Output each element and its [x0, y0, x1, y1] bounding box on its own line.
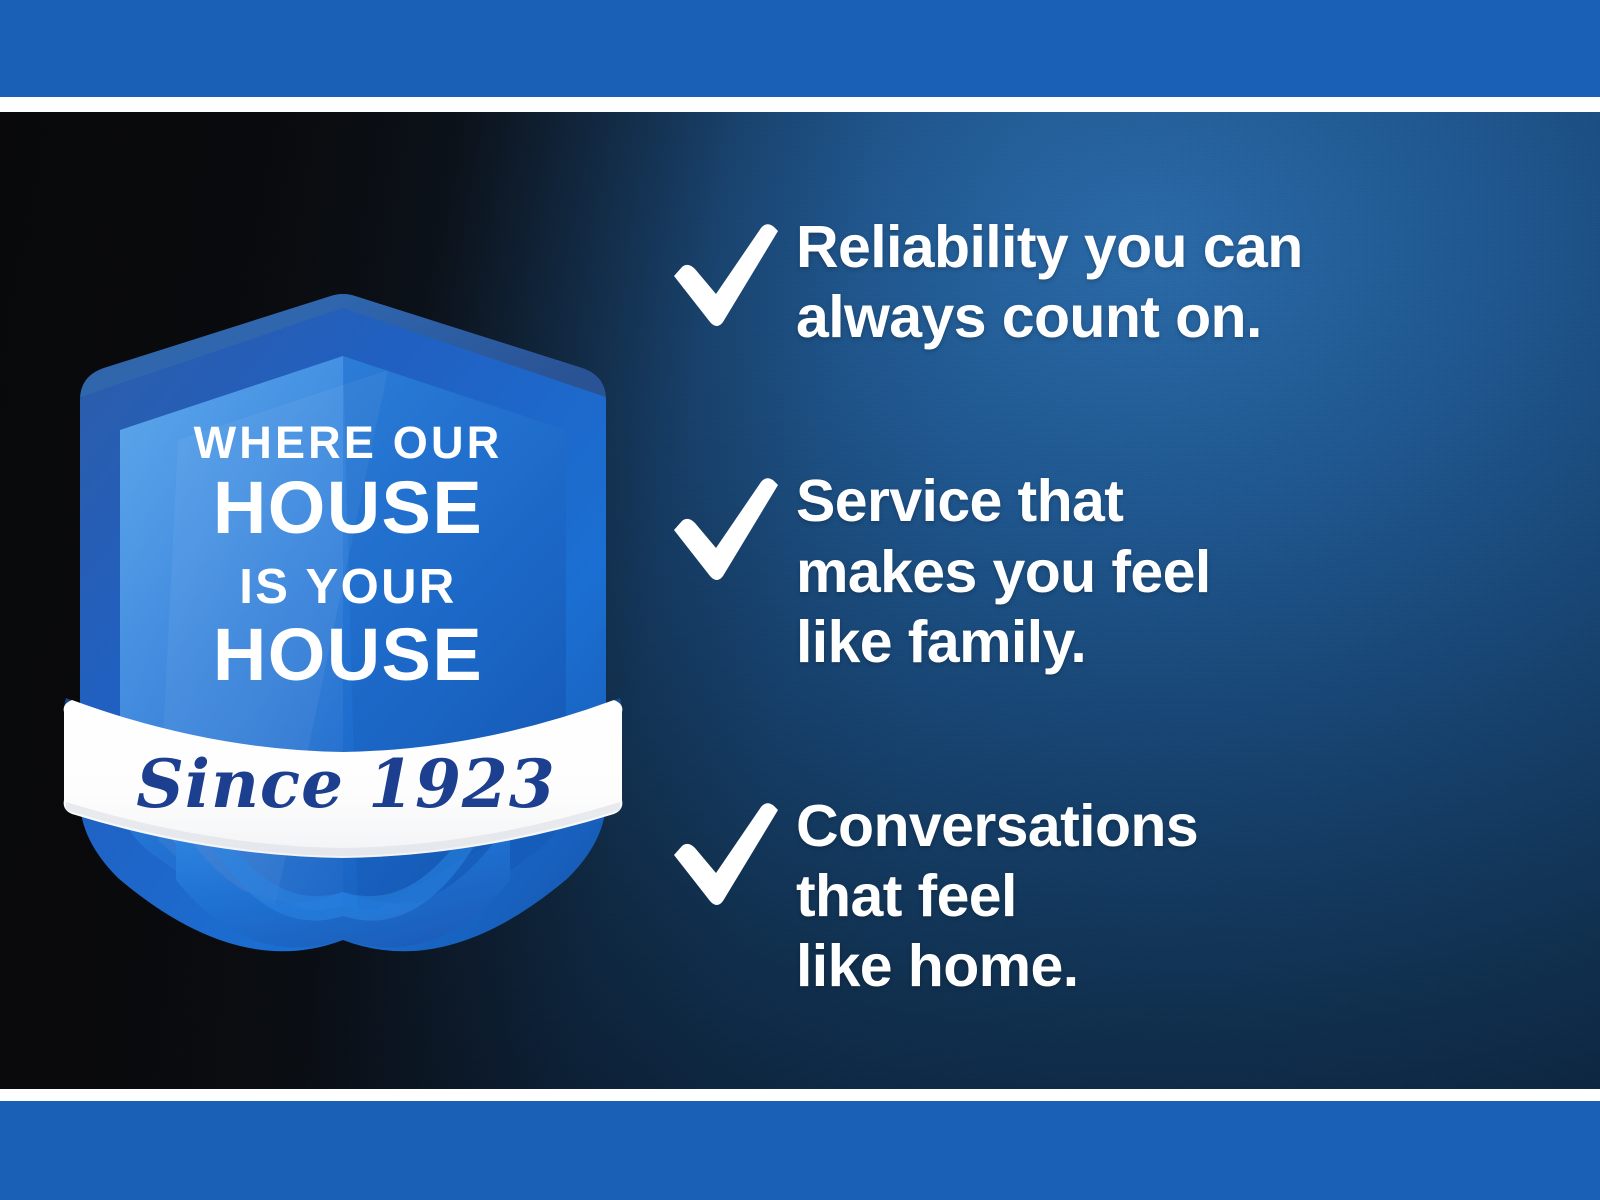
shield-line-3: IS YOUR — [239, 560, 456, 614]
shield-line-1: WHERE OUR — [194, 417, 503, 468]
benefit-text: Conversations that feel like home. — [796, 791, 1416, 1002]
benefit-text: Reliability you can always count on. — [796, 212, 1498, 352]
check-icon — [668, 791, 796, 909]
promo-graphic: WHERE OUR HOUSE IS YOUR HOUSE Since 1923 — [0, 0, 1600, 1200]
benefit-item: Conversations that feel like home. — [668, 791, 1498, 1002]
shield-logo: WHERE OUR HOUSE IS YOUR HOUSE Since 1923 — [58, 280, 628, 940]
shield-line-4: HOUSE — [213, 613, 483, 696]
top-brand-bar — [0, 0, 1600, 97]
main-canvas: WHERE OUR HOUSE IS YOUR HOUSE Since 1923 — [0, 112, 1600, 1089]
bottom-brand-bar — [0, 1101, 1600, 1200]
ribbon-since-text: Since 1923 — [136, 745, 556, 823]
check-icon — [668, 212, 796, 330]
benefit-item: Service that makes you feel like family. — [668, 466, 1498, 677]
shield-line-2: HOUSE — [213, 466, 483, 549]
check-icon — [668, 466, 796, 584]
benefit-item: Reliability you can always count on. — [668, 212, 1498, 352]
benefit-text: Service that makes you feel like family. — [796, 466, 1416, 677]
benefits-list: Reliability you can always count on. Ser… — [668, 212, 1498, 1002]
